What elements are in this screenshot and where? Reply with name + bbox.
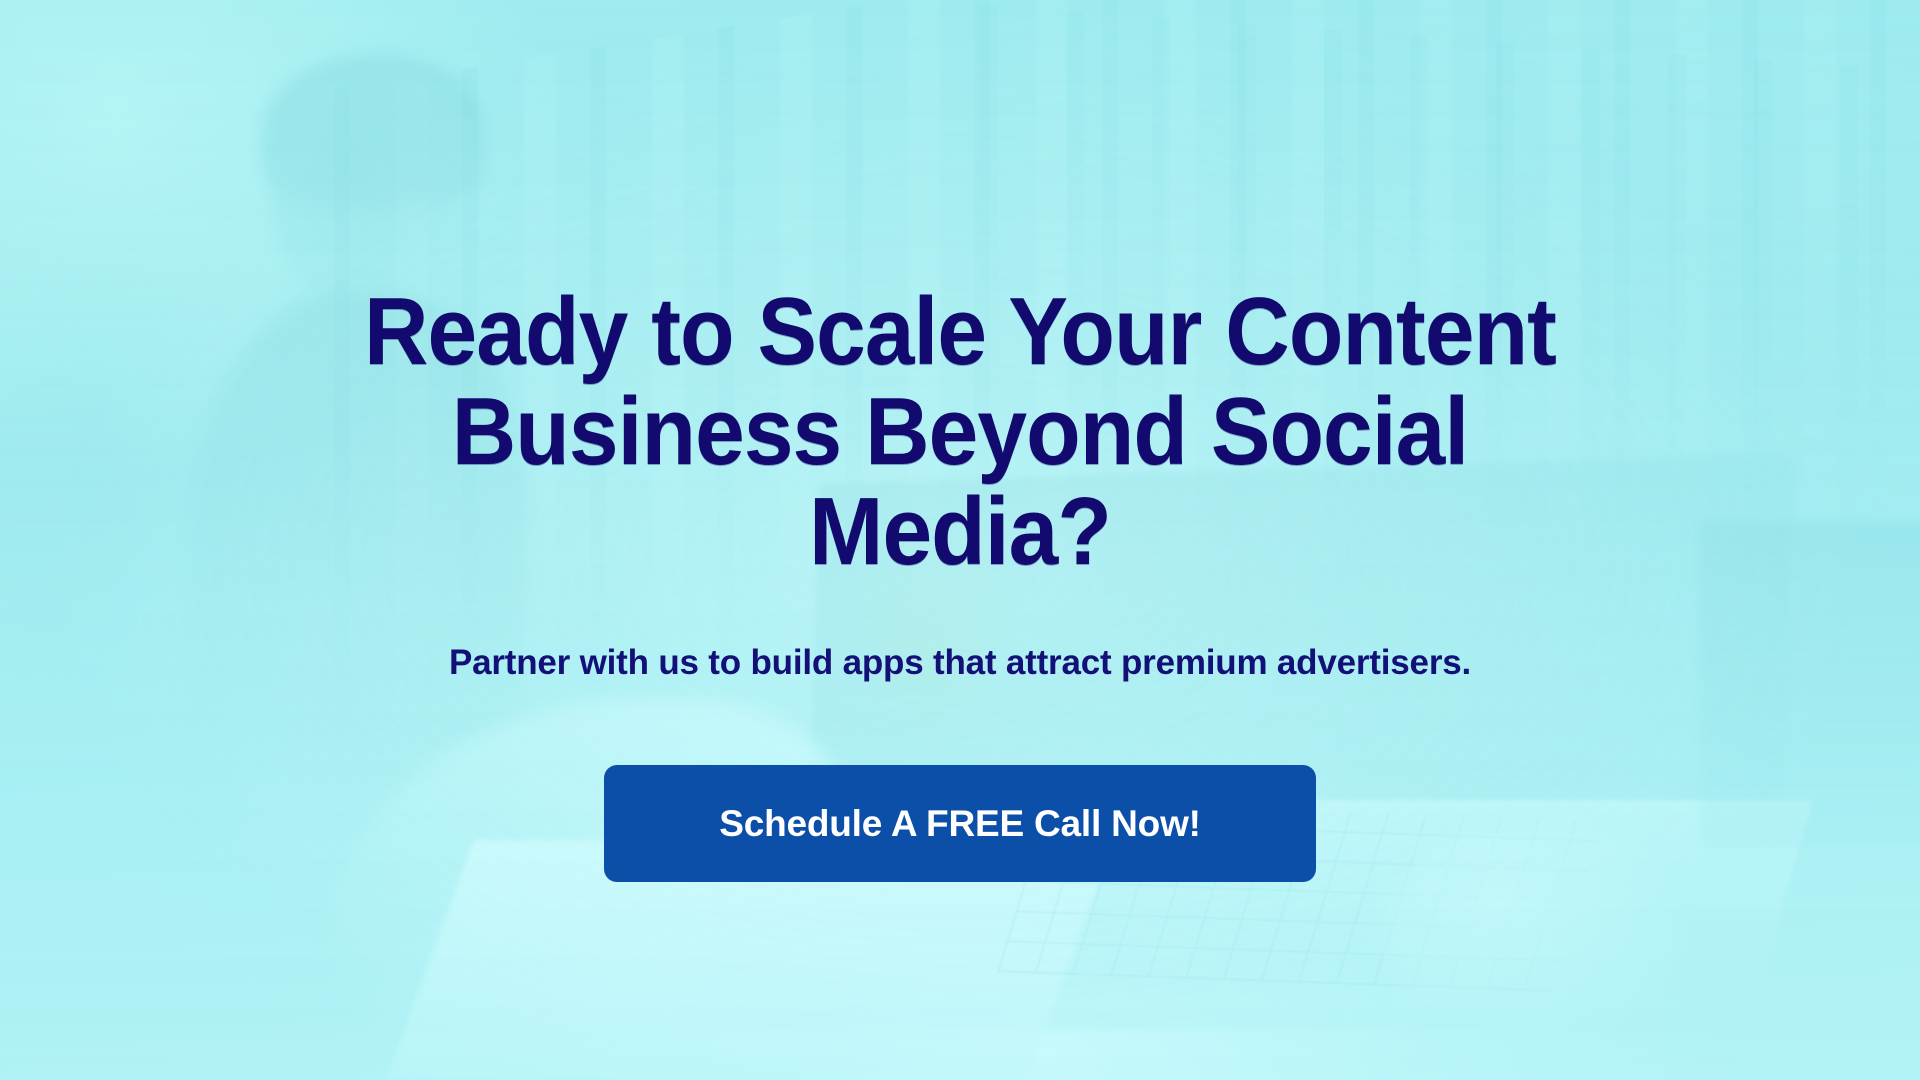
hero-subheadline: Partner with us to build apps that attra… — [449, 643, 1471, 683]
hero-content: Ready to Scale Your Content Business Bey… — [0, 0, 1920, 1080]
hero-cta-container: Schedule A FREE Call Now! — [604, 765, 1316, 882]
hero-section: Ready to Scale Your Content Business Bey… — [0, 0, 1920, 1080]
hero-headline-line-1: Ready to Scale Your Content — [309, 282, 1611, 382]
hero-headline-line-2: Business Beyond Social Media? — [309, 382, 1611, 582]
hero-headline: Ready to Scale Your Content Business Bey… — [309, 282, 1611, 581]
schedule-free-call-button[interactable]: Schedule A FREE Call Now! — [604, 765, 1316, 882]
